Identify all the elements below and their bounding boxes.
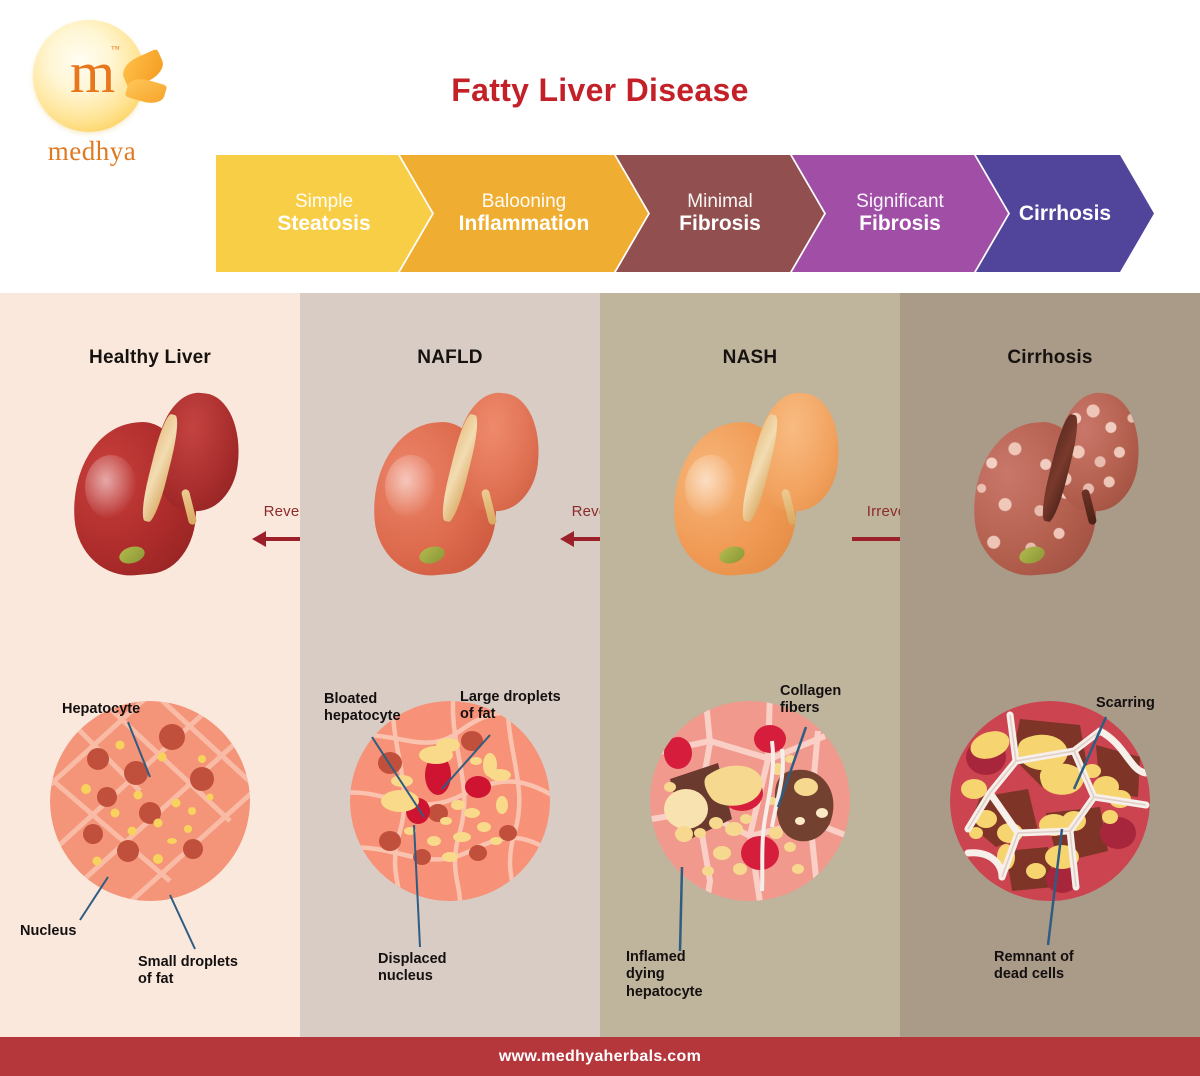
tissue-circle-cirrhosis	[950, 701, 1150, 901]
cell-diagram-healthy: Hepatocyte Nucleus Small droplets of fat	[20, 677, 280, 977]
callout-text-line2: of fat	[138, 971, 238, 988]
stage-line1: Significant	[856, 191, 944, 213]
stage-line1: Balooning	[482, 191, 567, 213]
stage-line2: Cirrhosis	[1019, 202, 1111, 226]
callout-text-line1: Collagen	[780, 683, 841, 700]
callout-collagen-fibers: Collagen fibers	[780, 683, 841, 718]
callout-text-line1: Bloated	[324, 691, 401, 708]
logo-trademark-icon: ™	[111, 44, 120, 54]
liver-illustration-nash	[655, 377, 845, 587]
callout-text-line2: dying	[626, 966, 703, 983]
stage-chevron-significant-fibrosis[interactable]: Significant Fibrosis	[792, 155, 1008, 272]
column-nafld: NAFLD	[300, 293, 600, 1037]
stage-progression-band: Simple Steatosis Balooning Inflammation …	[216, 155, 1154, 272]
page-title: Fatty Liver Disease	[0, 72, 1200, 109]
column-title: Cirrhosis	[900, 347, 1200, 369]
stage-chevron-balooning-inflammation[interactable]: Balooning Inflammation	[400, 155, 648, 272]
stage-line1: Minimal	[687, 191, 752, 213]
infographic-page: m ™ medhya Fatty Liver Disease Simple St…	[0, 0, 1200, 1076]
column-cirrhosis: Cirrhosis	[900, 293, 1200, 1037]
callout-hepatocyte: Hepatocyte	[62, 701, 140, 718]
column-healthy-liver: Healthy Liver	[0, 293, 300, 1037]
footer-bar: www.medhyaherbals.com	[0, 1037, 1200, 1076]
callout-text-line1: Displaced	[378, 951, 447, 968]
callout-text-line1: Remnant of	[994, 949, 1074, 966]
callout-small-droplets-of-fat: Small droplets of fat	[138, 954, 238, 989]
callout-text-line2: hepatocyte	[324, 708, 401, 725]
column-title: Healthy Liver	[0, 347, 300, 369]
callout-inflamed-dying-hepatocyte: Inflamed dying hepatocyte	[626, 949, 703, 1001]
footer-url[interactable]: www.medhyaherbals.com	[499, 1048, 701, 1066]
liver-illustration-cirrhosis	[955, 377, 1145, 587]
callout-text-line2: dead cells	[994, 966, 1074, 983]
callout-text: Hepatocyte	[62, 701, 140, 717]
stage-chevron-simple-steatosis[interactable]: Simple Steatosis	[216, 155, 432, 272]
callout-text-line2: nucleus	[378, 968, 447, 985]
column-nash: NASH	[600, 293, 900, 1037]
column-title: NASH	[600, 347, 900, 369]
stage-line2: Fibrosis	[859, 212, 941, 236]
stage-line2: Steatosis	[277, 212, 370, 236]
callout-text-line2: fibers	[780, 700, 841, 717]
callout-text-line1: Scarring	[1096, 695, 1155, 712]
callout-displaced-nucleus: Displaced nucleus	[378, 951, 447, 986]
tissue-circle-nash	[650, 701, 850, 901]
callout-text-line1: Small droplets	[138, 954, 238, 971]
liver-illustration-nafld	[355, 377, 545, 587]
column-title: NAFLD	[300, 347, 600, 369]
callout-text: Nucleus	[20, 923, 76, 939]
stage-columns: Healthy Liver	[0, 293, 1200, 1037]
callout-nucleus: Nucleus	[20, 923, 76, 940]
callout-large-droplets-of-fat: Large droplets of fat	[460, 689, 561, 724]
liver-illustration-healthy	[55, 377, 245, 587]
stage-line2: Inflammation	[459, 212, 590, 236]
callout-scarring: Scarring	[1096, 695, 1155, 712]
header: m ™ medhya Fatty Liver Disease Simple St…	[0, 0, 1200, 293]
callout-bloated-hepatocyte: Bloated hepatocyte	[324, 691, 401, 726]
tissue-circle-healthy	[50, 701, 250, 901]
callout-remnant-of-dead-cells: Remnant of dead cells	[994, 949, 1074, 984]
logo-wordmark: medhya	[27, 136, 157, 167]
callout-text-line3: hepatocyte	[626, 984, 703, 1001]
callout-text-line2: of fat	[460, 706, 561, 723]
cell-diagram-nash: Collagen fibers Inflamed dying hepatocyt…	[620, 677, 880, 977]
callout-text-line1: Large droplets	[460, 689, 561, 706]
cell-diagram-cirrhosis: Scarring Remnant of dead cells	[920, 677, 1180, 977]
stage-line2: Fibrosis	[679, 212, 761, 236]
cell-diagram-nafld: Bloated hepatocyte Large droplets of fat…	[320, 677, 580, 977]
stage-line1: Simple	[295, 191, 353, 213]
callout-text-line1: Inflamed	[626, 949, 703, 966]
tissue-circle-nafld	[350, 701, 550, 901]
